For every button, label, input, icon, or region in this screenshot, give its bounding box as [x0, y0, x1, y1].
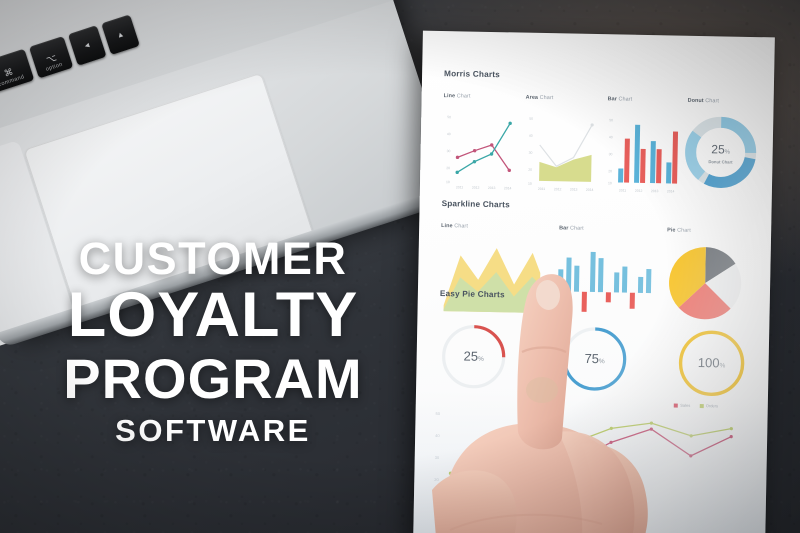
- up-arrow-icon: ▴: [117, 30, 124, 40]
- svg-text:2012: 2012: [554, 187, 562, 191]
- panel-title-line-bold: Line: [444, 93, 456, 99]
- svg-text:50: 50: [529, 117, 533, 121]
- svg-text:10: 10: [446, 180, 450, 184]
- svg-text:10: 10: [528, 182, 532, 186]
- title-line-software: SOFTWARE: [48, 410, 378, 452]
- panel-title-spark-bar-bold: Bar: [559, 225, 568, 231]
- svg-text:40: 40: [447, 132, 451, 136]
- svg-text:20: 20: [608, 169, 612, 173]
- svg-text:40: 40: [529, 134, 533, 138]
- title-line-program: PROGRAM: [48, 349, 378, 409]
- svg-text:2013: 2013: [488, 186, 496, 190]
- legend-label-orders: Orders: [706, 403, 718, 408]
- panel-title-bar-chart: Bar Chart: [608, 96, 633, 102]
- legend-swatch-orders-icon: [699, 404, 703, 408]
- keyboard-modifier-row: ⌘ command ⌥ option ◂ ▴: [0, 14, 140, 93]
- svg-text:50: 50: [609, 118, 613, 122]
- svg-text:2014: 2014: [586, 188, 594, 192]
- panel-title-spark-bar-rest: Chart: [568, 225, 583, 231]
- svg-text:20: 20: [528, 168, 532, 172]
- panel-title-spark-pie-rest: Chart: [675, 228, 690, 234]
- svg-text:2011: 2011: [456, 185, 463, 189]
- svg-text:30: 30: [529, 151, 533, 155]
- key-option[interactable]: ⌥ option: [29, 36, 73, 79]
- panel-title-donut-chart: Donut Chart: [688, 98, 719, 105]
- svg-text:2011: 2011: [619, 188, 626, 192]
- key-arrow-up[interactable]: ▴: [101, 14, 140, 55]
- svg-text:2012: 2012: [472, 186, 480, 190]
- section-heading-morris-charts: Morris Charts: [444, 69, 500, 79]
- easy-pie-100-unit: %: [719, 362, 725, 369]
- title-line-loyalty: LOYALTY: [48, 281, 378, 349]
- pointing-hand: [432, 262, 692, 533]
- chart-morris-donut: 25% Donut Chart: [678, 110, 764, 196]
- key-command[interactable]: ⌘ command: [0, 49, 34, 94]
- panel-title-bar-rest: Chart: [617, 96, 632, 102]
- easy-pie-100-value: 100: [698, 355, 720, 370]
- panel-title-line-rest: Chart: [455, 93, 470, 99]
- svg-text:2013: 2013: [570, 188, 578, 192]
- svg-text:2014: 2014: [504, 186, 512, 190]
- key-arrow-left[interactable]: ◂: [68, 25, 107, 66]
- svg-text:10: 10: [608, 181, 612, 185]
- left-arrow-icon: ◂: [84, 40, 91, 50]
- svg-text:50: 50: [447, 115, 451, 119]
- svg-text:30: 30: [609, 152, 613, 156]
- panel-title-spark-line-rest: Chart: [453, 223, 468, 229]
- panel-title-spark-bar: Bar Chart: [559, 225, 584, 231]
- legend-item-orders: Orders: [699, 403, 718, 408]
- svg-text:2012: 2012: [635, 189, 643, 193]
- svg-text:2014: 2014: [667, 189, 675, 193]
- panel-title-area-rest: Chart: [538, 95, 553, 101]
- panel-title-spark-pie: Pie Chart: [667, 227, 691, 233]
- panel-title-area-chart: Area Chart: [526, 95, 554, 102]
- chart-morris-area: 504030 2010 20112012 20132014: [520, 109, 608, 193]
- svg-text:40: 40: [609, 135, 613, 139]
- donut-value: 25: [711, 142, 725, 156]
- svg-text:2013: 2013: [651, 189, 659, 193]
- page-title: CUSTOMER LOYALTY PROGRAM SOFTWARE: [48, 236, 378, 451]
- panel-title-area-bold: Area: [526, 95, 539, 101]
- panel-title-donut-bold: Donut: [688, 98, 704, 104]
- svg-text:20: 20: [446, 166, 450, 170]
- title-line-customer: CUSTOMER: [48, 236, 378, 281]
- svg-text:30: 30: [447, 149, 451, 153]
- panel-title-spark-line: Line Chart: [441, 223, 468, 230]
- panel-title-bar-bold: Bar: [608, 96, 617, 102]
- section-heading-sparkline-charts: Sparkline Charts: [442, 199, 510, 209]
- chart-morris-line: 504030 2010 20112012 20132014: [438, 107, 526, 191]
- donut-unit: %: [725, 149, 730, 155]
- panel-title-line-chart: Line Chart: [444, 93, 471, 100]
- chart-morris-bar: 504030 2010 20112012 20132014: [602, 110, 690, 194]
- panel-title-spark-line-bold: Line: [441, 223, 453, 229]
- svg-text:2011: 2011: [538, 187, 545, 191]
- panel-title-donut-rest: Chart: [704, 98, 719, 104]
